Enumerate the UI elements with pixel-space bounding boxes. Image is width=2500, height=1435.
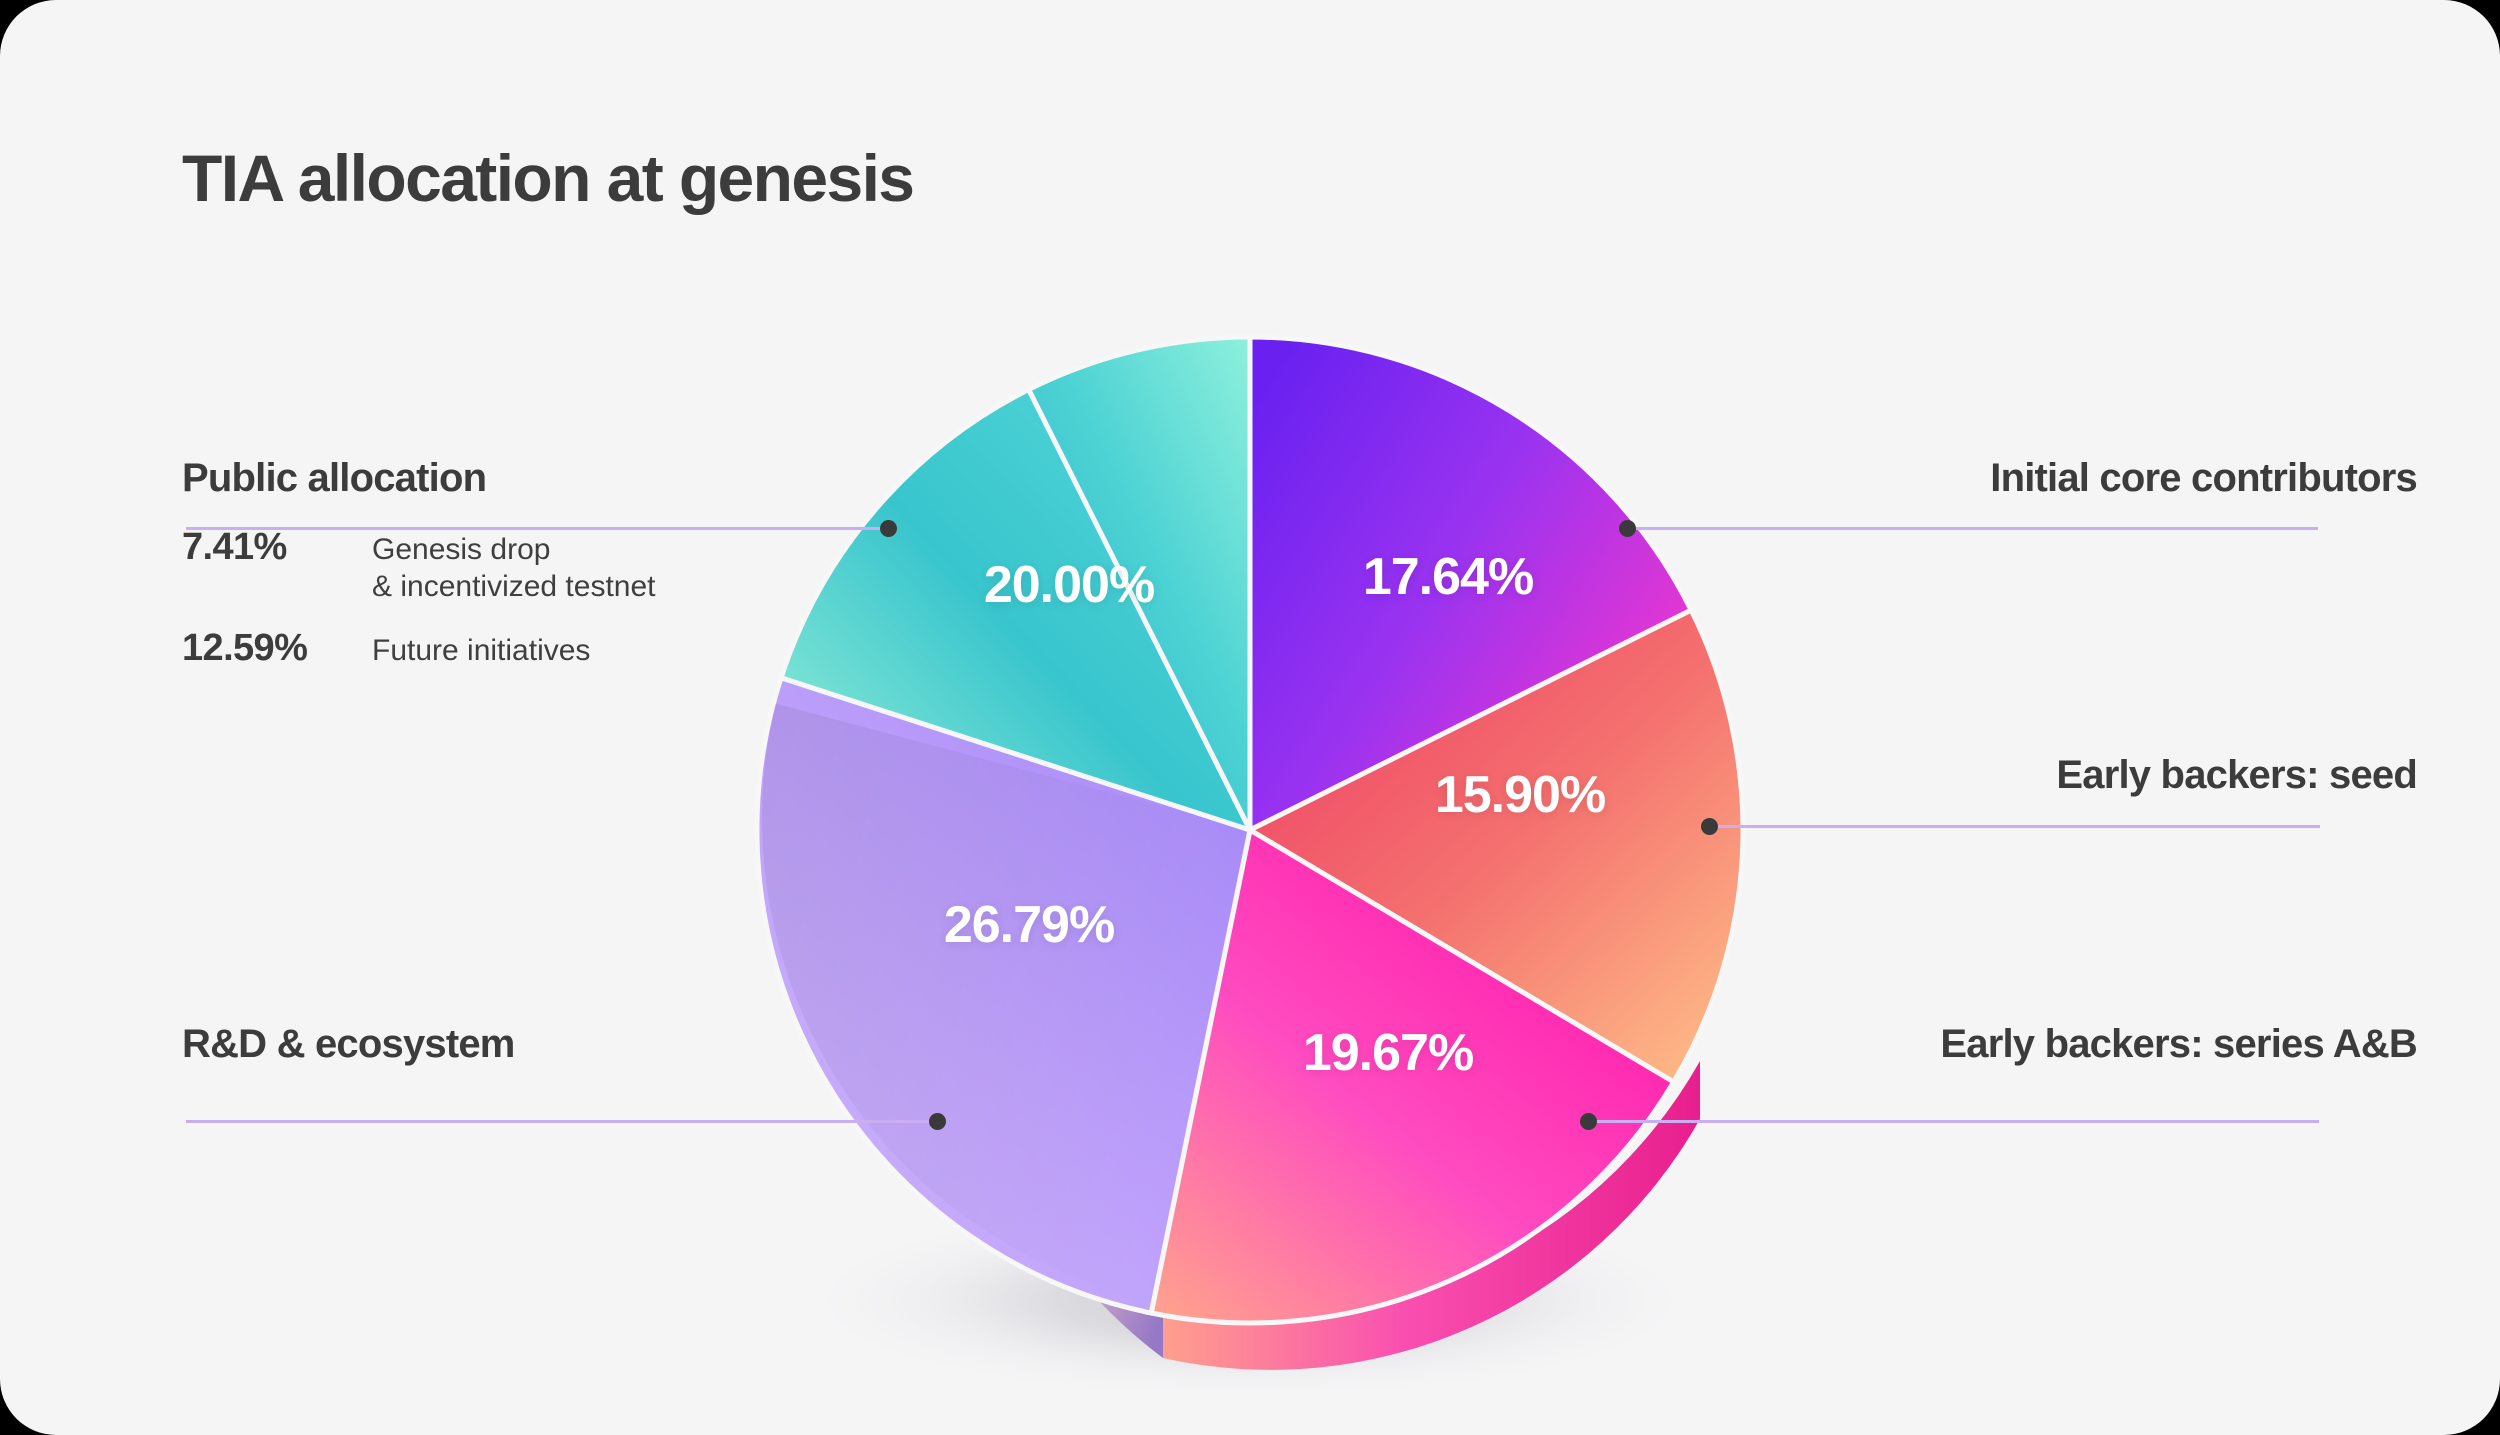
legend-early-backers-series[interactable]: Early backers: series A&B	[1717, 1024, 2417, 1064]
connector-dot-early-backers-seed	[1701, 818, 1718, 835]
legend-label-early-backers-seed: Early backers: seed	[1757, 755, 2417, 795]
list-item: 12.59% Future initiatives	[182, 627, 882, 670]
legend-rnd-ecosystem[interactable]: R&D & ecosystem	[182, 1024, 962, 1064]
connector-dot-initial-core-contributors	[1619, 520, 1636, 537]
legend-public-allocation[interactable]: Public allocation 7.41% Genesis drop & i…	[182, 458, 882, 692]
slice-value-initial-core-contributors: 17.64%	[1363, 547, 1533, 607]
legend-initial-core-contributors[interactable]: Initial core contributors	[1682, 458, 2417, 498]
slice-r-d-ecosystem[interactable]	[757, 678, 1250, 1313]
connector-dot-rnd-ecosystem	[929, 1113, 946, 1130]
pie-slices	[757, 337, 1743, 1323]
legend-label-initial-core-contributors: Initial core contributors	[1682, 458, 2417, 498]
chart-card: TIA allocation at genesis	[0, 0, 2500, 1435]
list-item: 7.41% Genesis drop & incentivized testne…	[182, 526, 882, 605]
pie-ground-shadow	[820, 1205, 1680, 1395]
slice-wall-rnd-bottom	[1099, 1243, 1163, 1358]
slice-value-public-allocation: 20.00%	[984, 555, 1154, 615]
breakdown-desc-genesis-drop: Genesis drop & incentivized testnet	[372, 526, 656, 605]
legend-early-backers-seed[interactable]: Early backers: seed	[1757, 755, 2417, 795]
public-allocation-breakdown: 7.41% Genesis drop & incentivized testne…	[182, 526, 882, 670]
page-title: TIA allocation at genesis	[182, 140, 913, 216]
connector-initial-core-contributors	[1628, 527, 2318, 530]
connector-early-backers-series	[1589, 1120, 2319, 1123]
connector-dot-early-backers-series	[1580, 1113, 1597, 1130]
connector-early-backers-seed	[1710, 825, 2320, 828]
pie-inner-shade	[762, 704, 1250, 1300]
slice-value-rnd-ecosystem: 26.79%	[944, 895, 1114, 955]
breakdown-desc-future-initiatives: Future initiatives	[372, 627, 590, 670]
breakdown-pct-genesis-drop: 7.41%	[182, 526, 372, 569]
slice-value-early-backers-seed: 15.90%	[1435, 765, 1605, 825]
connector-rnd-ecosystem	[186, 1120, 936, 1123]
connector-dot-public-allocation	[880, 520, 897, 537]
breakdown-pct-future-initiatives: 12.59%	[182, 627, 372, 670]
legend-label-early-backers-series: Early backers: series A&B	[1717, 1024, 2417, 1064]
legend-label-public-allocation: Public allocation	[182, 458, 882, 498]
legend-label-rnd-ecosystem: R&D & ecosystem	[182, 1024, 962, 1064]
slice-wall-series	[1163, 1061, 1700, 1370]
slice-value-early-backers-series: 19.67%	[1303, 1023, 1473, 1083]
slice-wall-public	[760, 705, 776, 858]
slice-early-backers-seed[interactable]	[1250, 610, 1743, 1082]
